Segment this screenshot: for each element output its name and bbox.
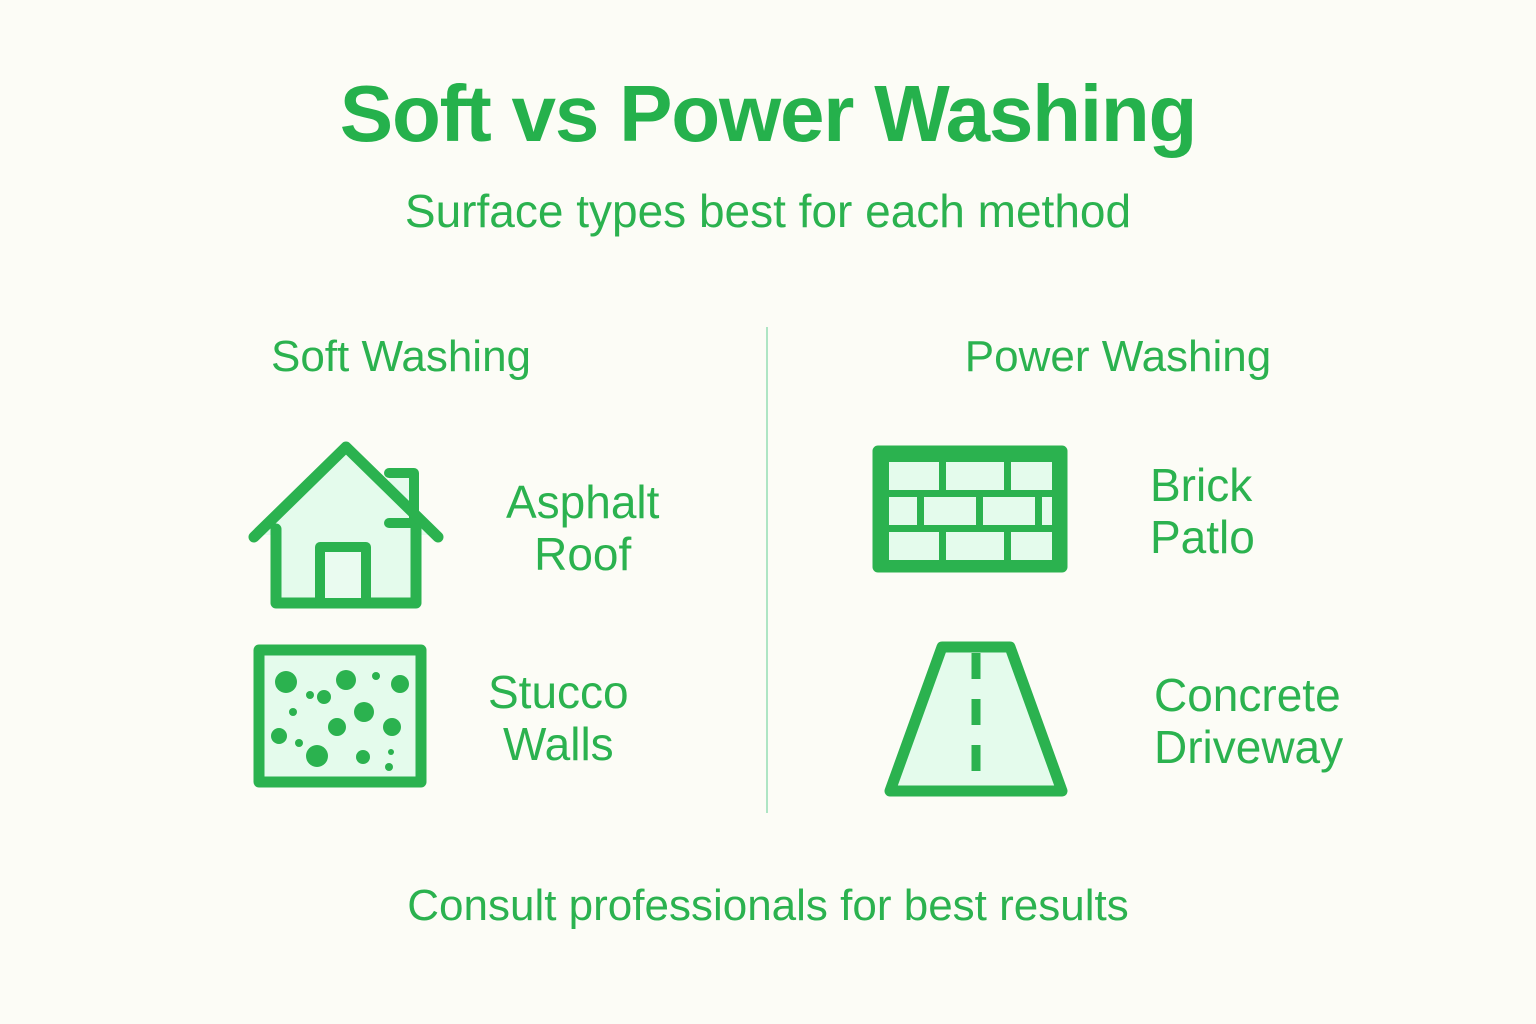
column-heading-power-washing: Power Washing <box>770 335 1536 379</box>
column-divider <box>766 327 768 813</box>
footer-note: Consult professionals for best results <box>0 884 1536 928</box>
header: Soft vs Power Washing Surface types best… <box>0 74 1536 234</box>
house-icon <box>246 437 446 620</box>
list-item-label: Brick Patlo <box>1150 460 1255 563</box>
column-power-washing: Power Washing <box>770 327 1536 813</box>
page-subtitle: Surface types best for each method <box>0 188 1536 234</box>
list-item: Brick Patlo <box>872 445 1255 578</box>
list-item: Stucco Walls <box>252 643 629 794</box>
comparison-columns: Soft Washing <box>0 327 1536 813</box>
page-title: Soft vs Power Washing <box>0 74 1536 154</box>
column-heading-soft-washing: Soft Washing <box>0 335 766 379</box>
driveway-icon <box>880 639 1072 804</box>
column-soft-washing: Soft Washing <box>0 327 766 813</box>
infographic-poster: Soft vs Power Washing Surface types best… <box>0 0 1536 1024</box>
brick-wall-icon <box>872 445 1068 578</box>
list-item-label: Stucco Walls <box>488 667 629 770</box>
stucco-wall-icon <box>252 643 428 794</box>
list-item: Asphalt Roof <box>246 437 659 620</box>
list-item-label: Concrete Driveway <box>1154 670 1343 773</box>
list-item: Concrete Driveway <box>880 639 1343 804</box>
list-item-label: Asphalt Roof <box>506 477 659 580</box>
